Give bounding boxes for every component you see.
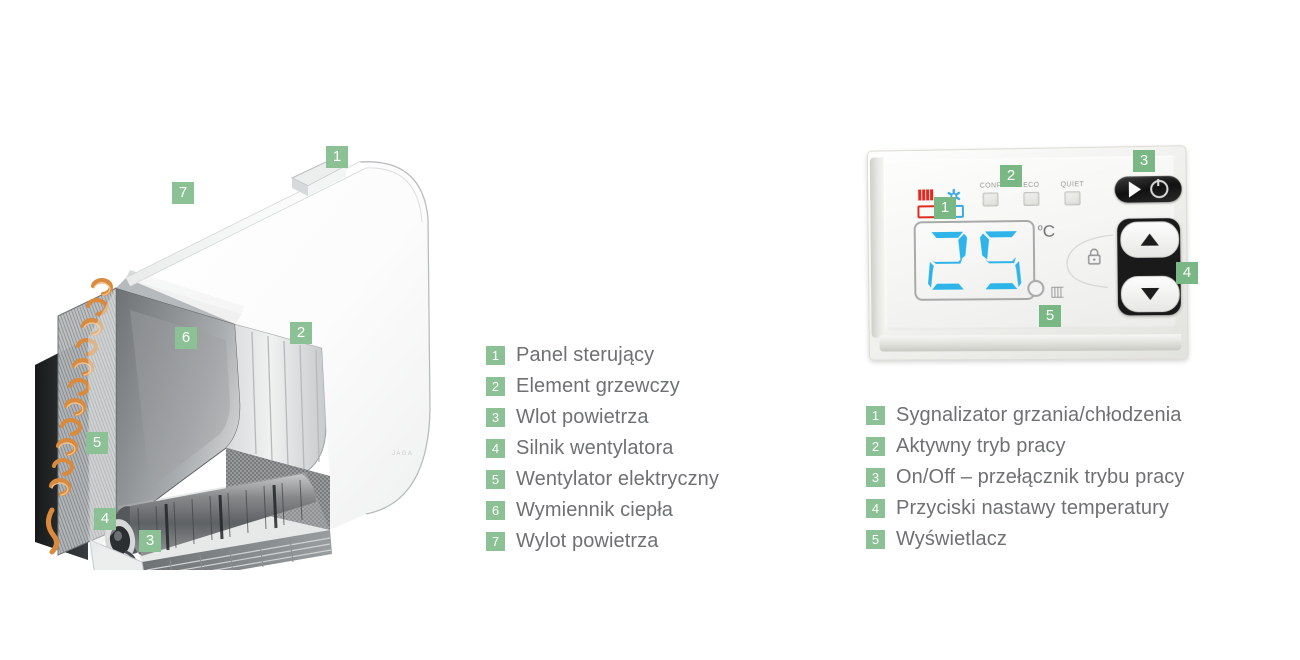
legend-right-row-2: 2 Aktywny tryb pracy [866,431,1185,462]
legend-right-num-5: 5 [866,530,885,549]
play-icon [1128,181,1140,197]
triangle-up-icon [1140,233,1158,245]
triangle-down-icon [1141,288,1159,300]
callout-panel-1: 1 [934,197,956,219]
callout-panel-2: 2 [1000,165,1022,187]
power-icon [1150,180,1168,198]
legend-left-num-2: 2 [486,377,505,396]
legend-left-num-7: 7 [486,532,505,551]
heating-element [226,324,326,472]
temp-up-button[interactable] [1120,221,1179,258]
legend-left-num-4: 4 [486,439,505,458]
legend-left-num-6: 6 [486,501,505,520]
onoff-button[interactable] [1115,176,1182,203]
legend-left-row-4: 4 Silnik wentylatora [486,433,719,464]
mode-led-quiet[interactable] [1064,191,1080,205]
legend-left-num-1: 1 [486,346,505,365]
legend-right-num-1: 1 [866,406,885,425]
callout-panel-5: 5 [1039,305,1061,327]
legend-right-row-3: 3 On/Off – przełącznik trybu pracy [866,462,1185,493]
panel-body: CONF ECO QUIET [867,145,1189,360]
temperature-buttons [1117,218,1181,315]
legend-right-num-4: 4 [866,499,885,518]
legend-left-row-6: 6 Wymiennik ciepła [486,495,719,526]
display [914,220,1036,301]
legend-left-row-1: 1 Panel sterujący [486,340,719,371]
legend-left-label-7: Wylot powietrza [516,530,658,553]
seven-segment-digit-2 [924,229,972,293]
legend-left-label-1: Panel sterujący [516,344,654,367]
display-unit-letter: C [1043,222,1055,241]
legend-left-row-3: 3 Wlot powietrza [486,402,719,433]
legend-right-row-5: 5 Wyświetlacz [866,524,1185,555]
panel-foot [879,334,1181,351]
callout-panel-4: 4 [1176,262,1198,284]
heating-icon [917,189,934,200]
display-digits [924,228,1026,293]
mode-led-conf[interactable] [983,192,999,206]
padlock-icon [1086,247,1102,265]
panel-bezel: CONF ECO QUIET [884,155,1178,329]
fan-coil-cutaway-svg: JAGA [30,110,450,570]
mode-row: CONF ECO QUIET [974,181,1088,207]
legend-right-row-4: 4 Przyciski nastawy temperatury [866,493,1185,524]
callout-device-1: 1 [326,146,348,168]
legend-left-row-7: 7 Wylot powietrza [486,526,719,557]
display-knob[interactable] [1027,280,1044,297]
legend-left-row-5: 5 Wentylator elektryczny [486,464,719,495]
legend-right-label-4: Przyciski nastawy temperatury [896,497,1169,520]
control-panel-photo: CONF ECO QUIET [866,148,1186,360]
legend-left: 1 Panel sterujący 2 Element grzewczy 3 W… [486,340,719,557]
callout-device-7: 7 [172,182,194,204]
temp-down-button[interactable] [1121,276,1180,313]
legend-right-num-3: 3 [866,468,885,487]
legend-right-label-2: Aktywny tryb pracy [896,435,1066,458]
legend-left-label-2: Element grzewczy [516,375,680,398]
callout-device-3: 3 [139,530,161,552]
legend-left-label-6: Wymiennik ciepła [516,499,673,522]
legend-right: 1 Sygnalizator grzania/chłodzenia 2 Akty… [866,400,1185,555]
legend-right-num-2: 2 [866,437,885,456]
legend-left-label-4: Silnik wentylatora [516,437,673,460]
brand-mark: JAGA [392,451,413,457]
mode-label-quiet: QUIET [1056,181,1088,189]
seven-segment-digit-5 [977,228,1025,292]
legend-left-num-3: 3 [486,408,505,427]
callout-device-6: 6 [175,327,197,349]
callout-device-2: 2 [290,322,312,344]
legend-left-label-5: Wentylator elektryczny [516,468,719,491]
legend-right-label-3: On/Off – przełącznik trybu pracy [896,466,1185,489]
callout-device-5: 5 [86,432,108,454]
callout-panel-3: 3 [1133,150,1155,172]
legend-left-row-2: 2 Element grzewczy [486,371,719,402]
legend-left-num-5: 5 [486,470,505,489]
legend-right-label-1: Sygnalizator grzania/chłodzenia [896,404,1182,427]
display-unit: oC [1038,222,1056,242]
mode-led-eco[interactable] [1023,192,1039,206]
device-illustration: JAGA [30,110,450,570]
legend-left-label-3: Wlot powietrza [516,406,649,429]
mode-cell-quiet[interactable]: QUIET [1056,181,1088,206]
callout-device-4: 4 [94,508,116,530]
legend-right-label-5: Wyświetlacz [896,528,1007,551]
legend-right-row-1: 1 Sygnalizator grzania/chłodzenia [866,400,1185,431]
